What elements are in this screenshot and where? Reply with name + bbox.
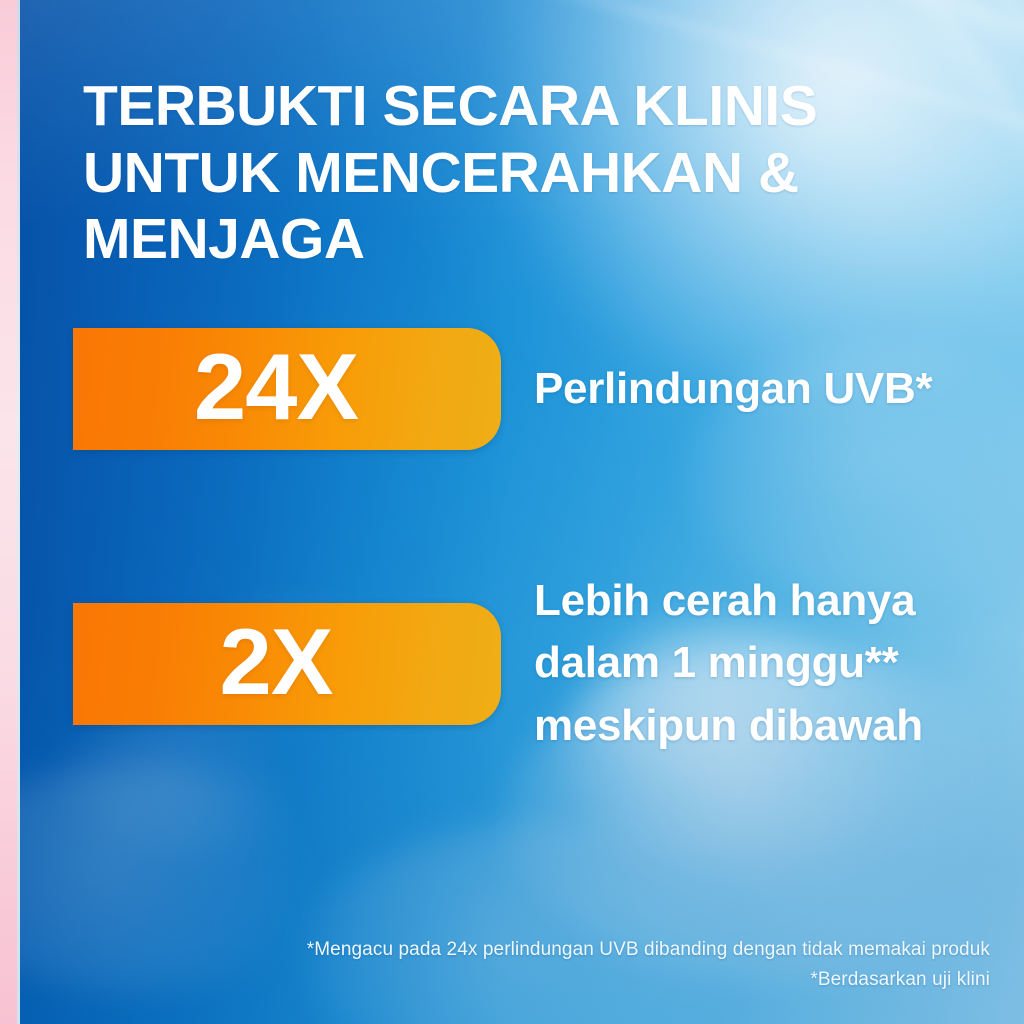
claim-copy-line: dalam 1 minggu** xyxy=(534,632,923,694)
claim-copy-line: Perlindungan UVB* xyxy=(534,358,932,420)
headline-line-2: UNTUK MENCERAHKAN & xyxy=(83,140,963,207)
claim-row-uvb: 24X Perlindungan UVB* xyxy=(73,328,932,450)
promo-banner: TERBUKTI SECARA KLINIS UNTUK MENCERAHKAN… xyxy=(0,0,1024,1024)
left-strip-highlight xyxy=(17,0,20,1024)
headline-line-1: TERBUKTI SECARA KLINIS xyxy=(83,73,963,140)
claim-badge-2x: 2X xyxy=(73,603,501,725)
claim-row-brightening: 2X Lebih cerah hanya dalam 1 minggu** me… xyxy=(73,570,923,757)
left-pink-strip xyxy=(0,0,17,1024)
footnote-line-1: *Mengacu pada 24x perlindungan UVB diban… xyxy=(170,935,990,964)
claim-badge-24x: 24X xyxy=(73,328,501,450)
claim-copy-line: Lebih cerah hanya xyxy=(534,570,923,632)
banner-content: TERBUKTI SECARA KLINIS UNTUK MENCERAHKAN… xyxy=(0,0,1024,1024)
claim-badge-value: 2X xyxy=(220,615,333,709)
claim-badge-value: 24X xyxy=(194,340,358,434)
headline-line-3: MENJAGA xyxy=(83,206,963,273)
claim-copy-brightening: Lebih cerah hanya dalam 1 minggu** meski… xyxy=(534,570,923,757)
footnotes: *Mengacu pada 24x perlindungan UVB diban… xyxy=(170,935,990,994)
headline: TERBUKTI SECARA KLINIS UNTUK MENCERAHKAN… xyxy=(83,73,963,273)
claim-copy-uvb: Perlindungan UVB* xyxy=(534,358,932,420)
claim-copy-line: meskipun dibawah xyxy=(534,695,923,757)
footnote-line-2: *Berdasarkan uji klini xyxy=(170,965,990,994)
